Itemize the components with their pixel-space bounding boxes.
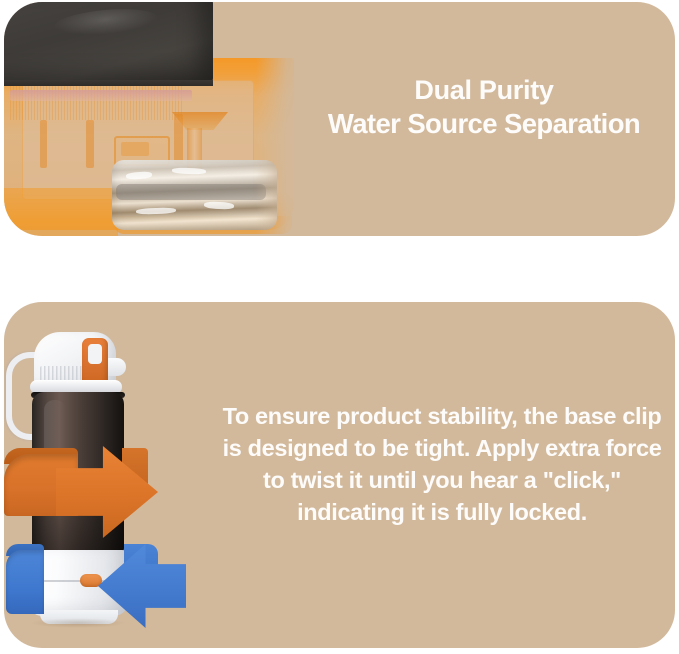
bottle-base-release-button <box>80 574 102 587</box>
headline-line-1: Dual Purity <box>304 74 664 107</box>
bottle-clip-slot <box>88 344 102 364</box>
page-title: Dual Purity Water Source Separation <box>304 74 664 140</box>
water-bottle-twist-base-illustration <box>4 322 204 632</box>
xray-internal-chip <box>121 142 149 156</box>
headline-line-2: Water Source Separation <box>304 107 664 140</box>
xray-cap-edge <box>4 80 213 86</box>
xray-cap-gloss <box>53 6 159 39</box>
bottle-ground-shadow <box>30 618 126 628</box>
instruction-text: To ensure product stability, the base cl… <box>222 400 662 528</box>
xray-pool-shadow <box>116 184 266 200</box>
dual-purity-panel: Dual Purity Water Source Separation <box>4 2 675 236</box>
xray-internal-post-1 <box>40 120 47 168</box>
xray-seal-strip <box>10 90 192 101</box>
blue-rotation-band <box>6 550 44 614</box>
product-cross-section-xray <box>4 2 304 236</box>
xray-internal-post-2 <box>86 120 94 168</box>
xray-cap <box>4 2 213 84</box>
xray-left-residue-column <box>4 188 118 236</box>
